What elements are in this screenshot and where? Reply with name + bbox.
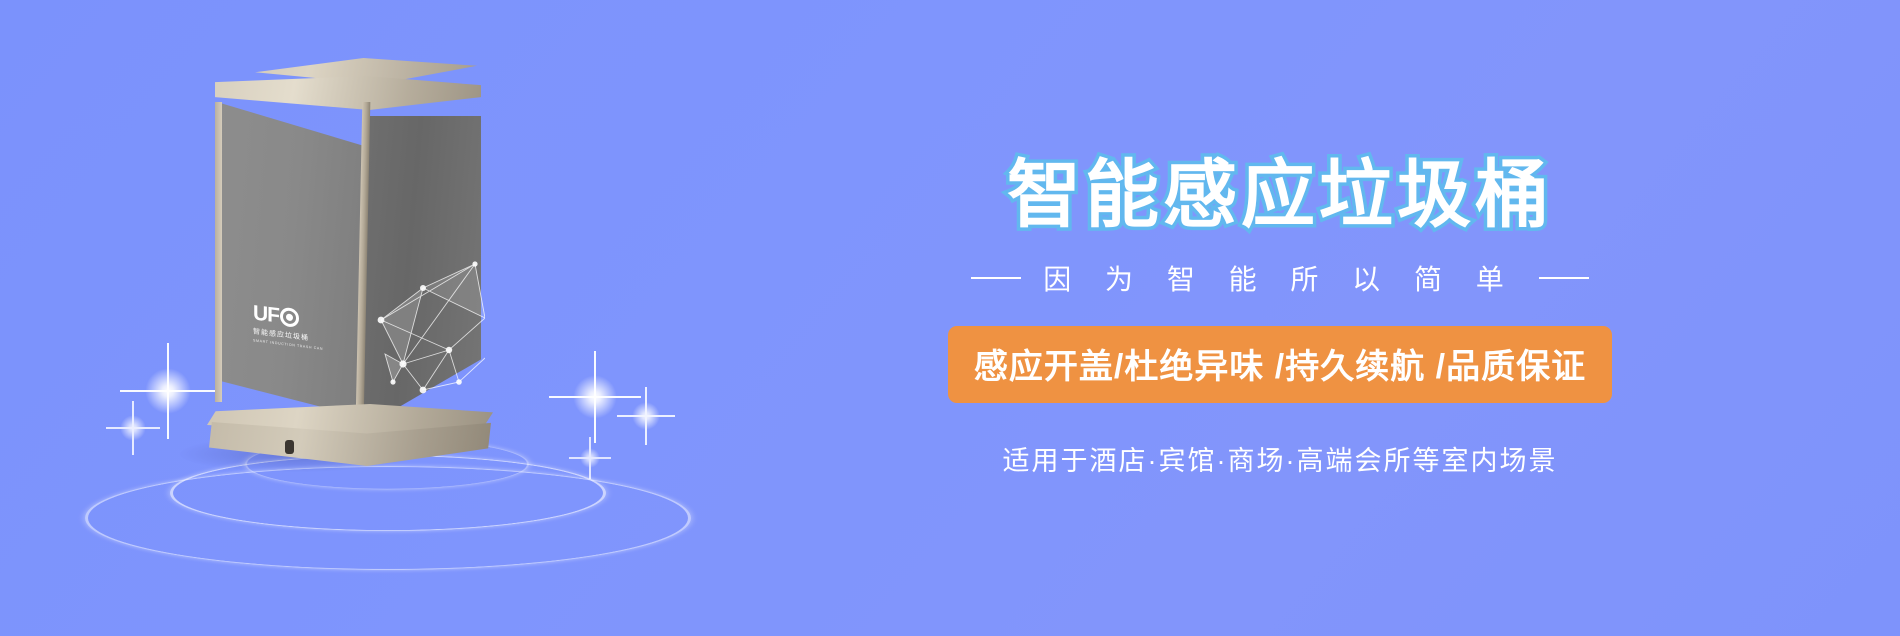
usage-scenes-text: 适用于酒店·宾馆·商场·高端会所等室内场景	[1003, 439, 1558, 478]
dash-right-icon	[1539, 277, 1589, 279]
page-title: 智能感应垃圾桶	[1007, 158, 1553, 232]
logo-ring-icon	[280, 307, 299, 328]
bin-body-left-panel	[217, 102, 365, 418]
features-badge: 感应开盖/杜绝异味 /持久续航 /品质保证	[948, 326, 1612, 403]
promo-banner: UF 智能感应垃圾桶 SMART INDUCTION TRASH CAN 智能感…	[0, 0, 1900, 636]
sparkle-icon	[580, 448, 600, 468]
sparkle-icon	[632, 402, 660, 430]
product-illustration: UF 智能感应垃圾桶 SMART INDUCTION TRASH CAN	[60, 20, 740, 580]
bin-left-edge-trim	[215, 102, 222, 402]
sparkle-icon	[573, 375, 617, 419]
polygon-network-graphic	[363, 168, 485, 418]
banner-subtitle-text: 因 为 智 能 所 以 简 单	[1043, 258, 1516, 298]
dash-left-icon	[971, 277, 1021, 279]
sparkle-icon	[120, 415, 146, 441]
banner-subtitle: 因 为 智 能 所 以 简 单	[971, 258, 1588, 298]
sparkle-icon	[145, 368, 191, 414]
logo-mark-text: UF	[253, 302, 279, 326]
banner-copy: 智能感应垃圾桶 因 为 智 能 所 以 简 单 感应开盖/杜绝异味 /持久续航 …	[740, 0, 1820, 636]
bin-lid-rim	[215, 76, 481, 110]
smart-trash-bin: UF 智能感应垃圾桶 SMART INDUCTION TRASH CAN	[215, 58, 485, 458]
sensor-icon	[285, 440, 294, 454]
